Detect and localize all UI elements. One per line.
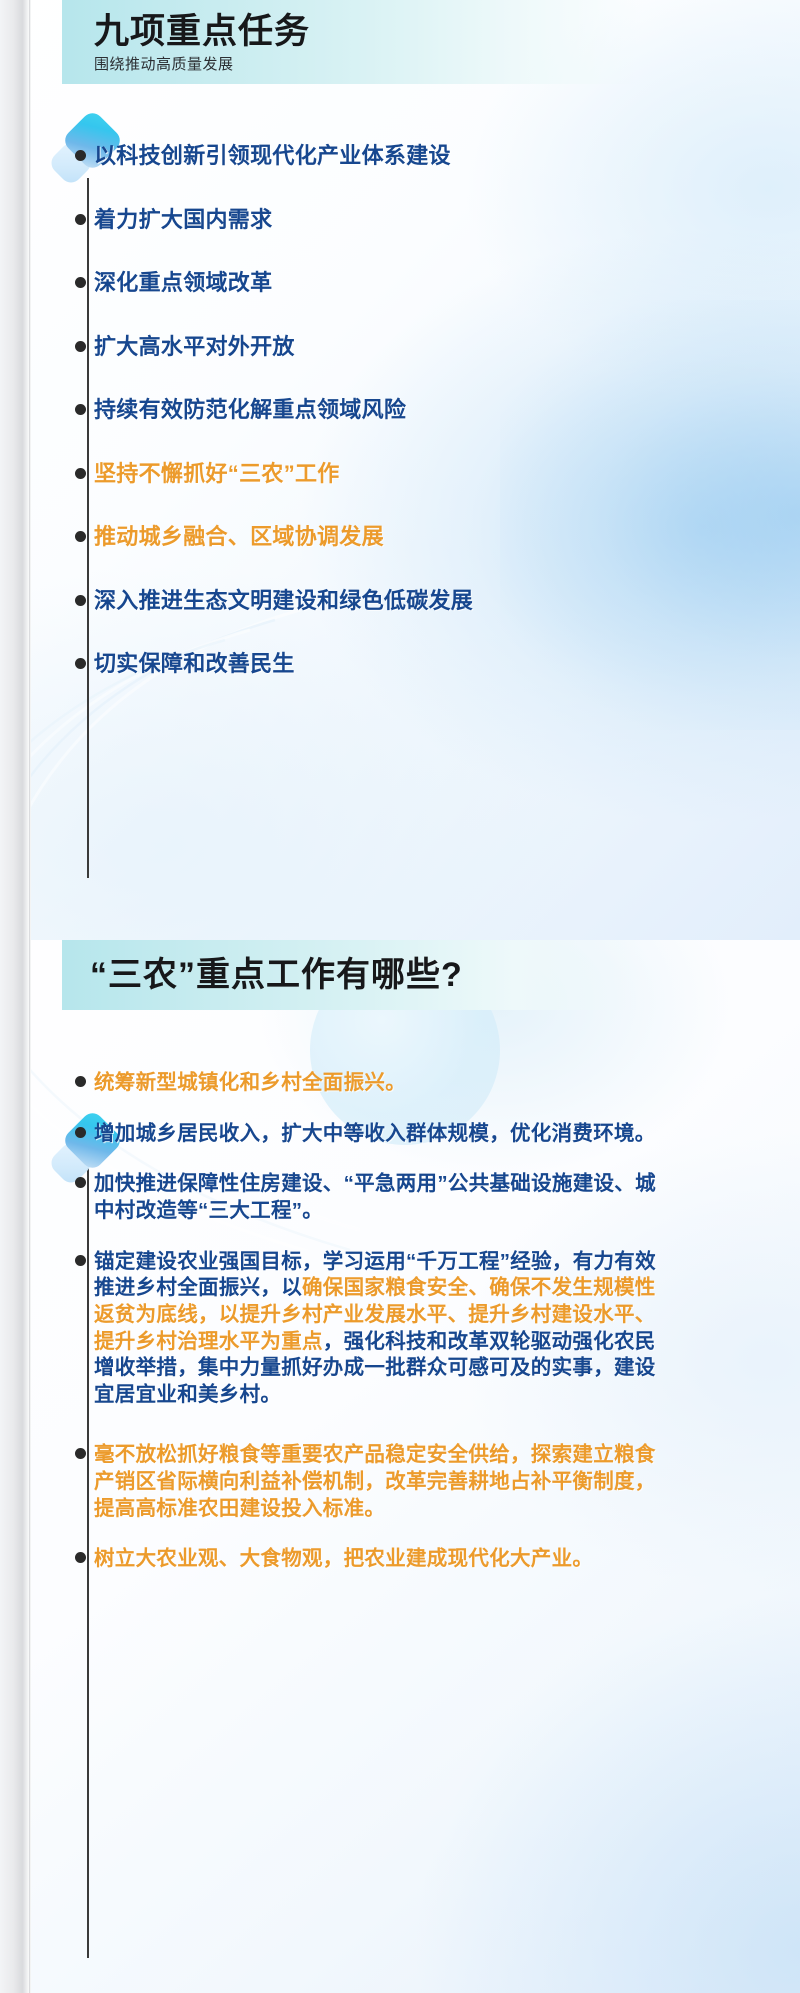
- list-item-label: 着力扩大国内需求: [94, 206, 666, 234]
- section-sannong-key-work: “三农”重点工作有哪些? 统筹新型城镇化和乡村全面振兴。增加城乡居民收入，扩大中…: [0, 940, 800, 1597]
- list-item-text-run: 毫不放松抓好粮食等重要农产品稳定安全供给，探索建立粮食产销区省际横向利益补偿机制…: [94, 1443, 656, 1519]
- list-item: 统筹新型城镇化和乡村全面振兴。: [66, 1070, 666, 1097]
- bullet-icon: [66, 1121, 94, 1138]
- bullet-dot: [75, 1177, 86, 1188]
- bullet-dot: [75, 1448, 86, 1459]
- bullet-icon: [66, 396, 94, 415]
- list-item: 加快推进保障性住房建设、“平急两用”公共基础设施建设、城中村改造等“三大工程”。: [66, 1171, 666, 1224]
- list-item-label: 毫不放松抓好粮食等重要农产品稳定安全供给，探索建立粮食产销区省际横向利益补偿机制…: [94, 1442, 666, 1522]
- list-item-label: 统筹新型城镇化和乡村全面振兴。: [94, 1070, 666, 1097]
- list-item-label: 持续有效防范化解重点领域风险: [94, 396, 666, 424]
- list-item-label: 扩大高水平对外开放: [94, 333, 666, 361]
- bullet-icon: [66, 650, 94, 669]
- list-item: 深入推进生态文明建设和绿色低碳发展: [66, 587, 666, 615]
- bullet-dot: [75, 214, 86, 225]
- bullet-dot: [75, 531, 86, 542]
- section-two-header-band: “三农”重点工作有哪些?: [62, 940, 642, 1010]
- bullet-icon: [66, 1070, 94, 1087]
- bullet-icon: [66, 587, 94, 606]
- section-two-list: 统筹新型城镇化和乡村全面振兴。增加城乡居民收入，扩大中等收入群体规模，优化消费环…: [66, 1070, 666, 1573]
- bullet-dot: [75, 1255, 86, 1266]
- list-item-text-run: 加快推进保障性住房建设、“平急两用”公共基础设施建设、城中村改造等“三大工程”。: [94, 1172, 656, 1222]
- bullet-icon: [66, 1171, 94, 1188]
- list-item: 树立大农业观、大食物观，把农业建成现代化大产业。: [66, 1546, 666, 1573]
- list-item-label: 树立大农业观、大食物观，把农业建成现代化大产业。: [94, 1546, 666, 1573]
- bullet-icon: [66, 142, 94, 161]
- bullet-icon: [66, 460, 94, 479]
- list-item-label: 以科技创新引领现代化产业体系建设: [94, 142, 666, 170]
- list-item: 持续有效防范化解重点领域风险: [66, 396, 666, 424]
- list-item-text-run: 增加城乡居民收入，扩大中等收入群体规模，优化消费环境。: [94, 1122, 656, 1145]
- list-item: 以科技创新引领现代化产业体系建设: [66, 142, 666, 170]
- bullet-dot: [75, 1127, 86, 1138]
- list-item-label: 坚持不懈抓好“三农”工作: [94, 460, 666, 488]
- list-item: 坚持不懈抓好“三农”工作: [66, 460, 666, 488]
- list-item-label: 加快推进保障性住房建设、“平急两用”公共基础设施建设、城中村改造等“三大工程”。: [94, 1171, 666, 1224]
- list-item: 深化重点领域改革: [66, 269, 666, 297]
- bullet-icon: [66, 269, 94, 288]
- list-item: 毫不放松抓好粮食等重要农产品稳定安全供给，探索建立粮食产销区省际横向利益补偿机制…: [66, 1442, 666, 1522]
- bullet-dot: [75, 404, 86, 415]
- section-one-title: 九项重点任务: [94, 12, 642, 51]
- section-nine-key-tasks: 九项重点任务 围绕推动高质量发展 以科技创新引领现代化产业体系建设着力扩大国内需…: [0, 0, 800, 714]
- bullet-icon: [66, 1442, 94, 1459]
- page-gutter-line: [29, 0, 31, 1993]
- list-item: 推动城乡融合、区域协调发展: [66, 523, 666, 551]
- section-one-subtitle: 围绕推动高质量发展: [94, 56, 642, 74]
- bullet-icon: [66, 206, 94, 225]
- section-two-title: “三农”重点工作有哪些?: [90, 956, 642, 994]
- infographic-page: 九项重点任务 围绕推动高质量发展 以科技创新引领现代化产业体系建设着力扩大国内需…: [0, 0, 800, 1993]
- list-item-label: 推动城乡融合、区域协调发展: [94, 523, 666, 551]
- list-item-text-run: 统筹新型城镇化和乡村全面振兴。: [94, 1071, 406, 1094]
- list-item-label: 切实保障和改善民生: [94, 650, 666, 678]
- list-item: 扩大高水平对外开放: [66, 333, 666, 361]
- list-item-label: 深化重点领域改革: [94, 269, 666, 297]
- list-item-label: 深入推进生态文明建设和绿色低碳发展: [94, 587, 666, 615]
- list-item-label: 锚定建设农业强国目标，学习运用“千万工程”经验，有力有效推进乡村全面振兴，以确保…: [94, 1249, 666, 1409]
- list-item: 着力扩大国内需求: [66, 206, 666, 234]
- section-one-header-band: 九项重点任务 围绕推动高质量发展: [62, 0, 642, 84]
- bullet-dot: [75, 341, 86, 352]
- section-one-list: 以科技创新引领现代化产业体系建设着力扩大国内需求深化重点领域改革扩大高水平对外开…: [66, 142, 666, 678]
- list-item: 增加城乡居民收入，扩大中等收入群体规模，优化消费环境。: [66, 1121, 666, 1148]
- page-gutter: [0, 0, 30, 1993]
- list-item: 锚定建设农业强国目标，学习运用“千万工程”经验，有力有效推进乡村全面振兴，以确保…: [66, 1249, 666, 1409]
- bullet-icon: [66, 523, 94, 542]
- bullet-dot: [75, 658, 86, 669]
- bullet-dot: [75, 150, 86, 161]
- bullet-dot: [75, 468, 86, 479]
- bullet-icon: [66, 1249, 94, 1266]
- bullet-icon: [66, 333, 94, 352]
- bullet-dot: [75, 595, 86, 606]
- list-item-label: 增加城乡居民收入，扩大中等收入群体规模，优化消费环境。: [94, 1121, 666, 1148]
- list-item: 切实保障和改善民生: [66, 650, 666, 678]
- bullet-icon: [66, 1546, 94, 1563]
- list-item-text-run: 树立大农业观、大食物观，把农业建成现代化大产业。: [94, 1547, 593, 1570]
- bullet-dot: [75, 1076, 86, 1087]
- bullet-dot: [75, 277, 86, 288]
- bullet-dot: [75, 1552, 86, 1563]
